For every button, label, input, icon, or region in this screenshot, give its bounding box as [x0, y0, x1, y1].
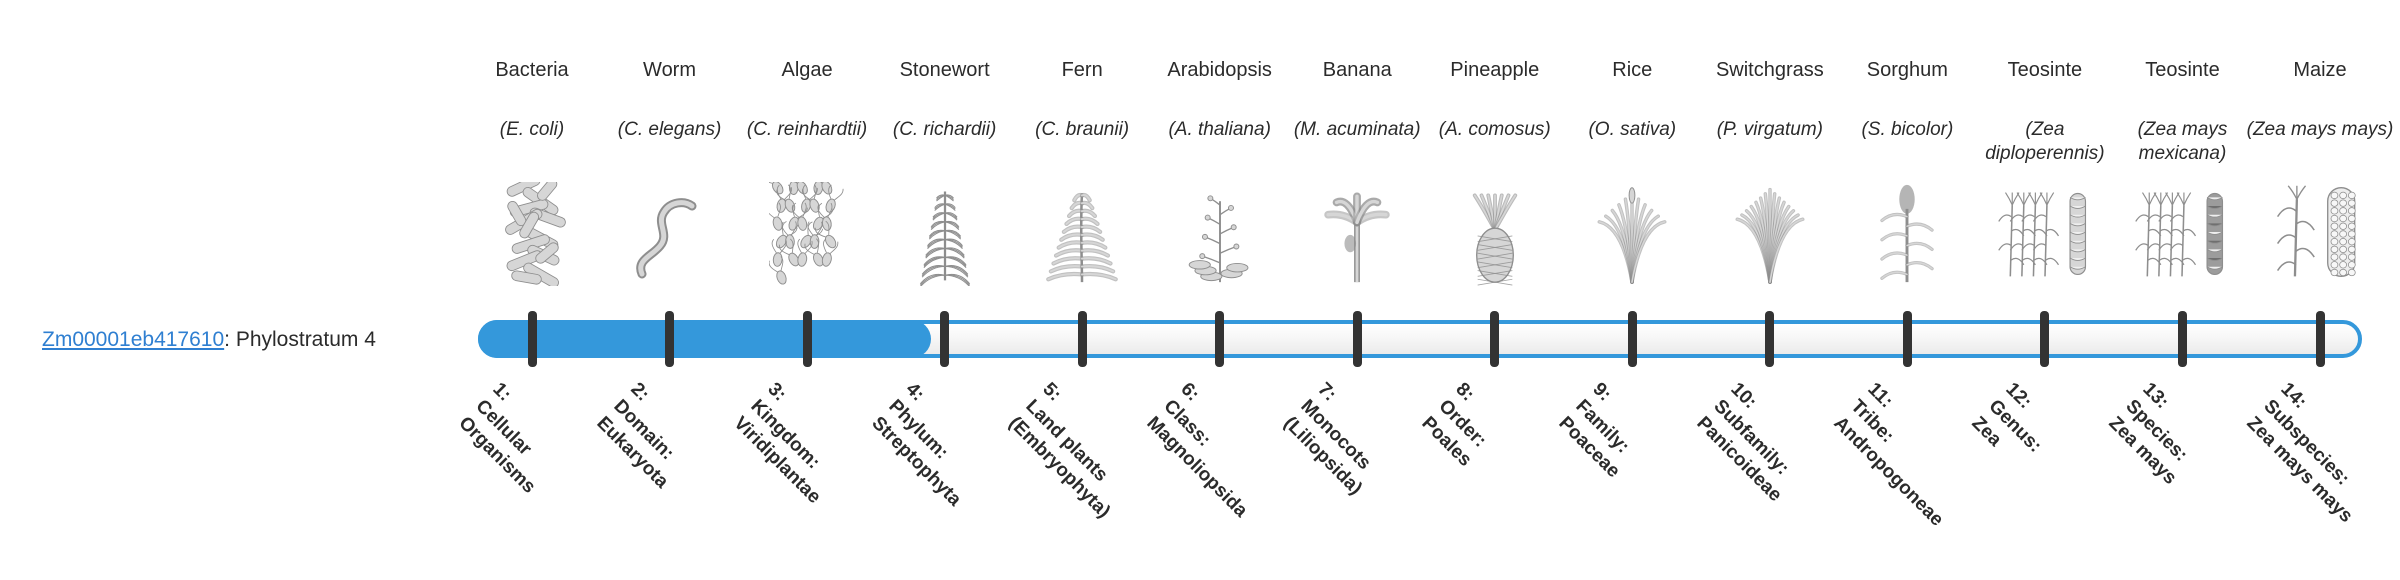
organism-common-name: Algae: [732, 58, 882, 83]
organism-common-name: Stonewort: [870, 58, 1020, 83]
organism-column-1: Bacteria (E. coli): [457, 0, 607, 580]
fern-frond-icon: [1007, 178, 1157, 286]
organism-column-12: Teosinte (Zea diploperennis): [1970, 0, 2120, 580]
organism-scientific-name: (M. acuminata): [1282, 118, 1432, 142]
organism-scientific-name: (C. elegans): [595, 118, 745, 142]
organism-column-9: Rice (O. sativa): [1557, 0, 1707, 580]
phylostratum-tick-1[interactable]: [528, 311, 537, 367]
nematode-worm-icon: [595, 178, 745, 286]
organism-common-name: Fern: [1007, 58, 1157, 83]
organism-scientific-name: (Zea mays mays): [2245, 118, 2395, 142]
gene-label-separator: :: [224, 328, 236, 351]
chlamydomonas-algae-icon: [732, 178, 882, 286]
organism-common-name: Arabidopsis: [1145, 58, 1295, 83]
gene-phylostratum-label: Zm00001eb417610: Phylostratum 4: [42, 328, 432, 352]
organism-common-name: Teosinte: [2107, 58, 2257, 83]
organism-common-name: Teosinte: [1970, 58, 2120, 83]
organism-column-2: Worm (C. elegans): [595, 0, 745, 580]
bacteria-rods-icon: [457, 178, 607, 286]
phylostratum-timeline: Zm00001eb417610: Phylostratum 4 Bacteria…: [0, 0, 2400, 580]
organism-scientific-name: (Zea diploperennis): [1970, 118, 2120, 166]
organism-column-13: Teosinte (Zea mays mexicana): [2107, 0, 2257, 580]
teosinte-plant-ear-icon: [1970, 178, 2120, 286]
organism-scientific-name: (C. reinhardtii): [732, 118, 882, 142]
phylostratum-tick-11[interactable]: [1903, 311, 1912, 367]
phylostratum-tick-7[interactable]: [1353, 311, 1362, 367]
phylostratum-tick-13[interactable]: [2178, 311, 2187, 367]
organism-common-name: Bacteria: [457, 58, 607, 83]
organism-column-8: Pineapple (A. comosus): [1420, 0, 1570, 580]
sorghum-plant-icon: [1832, 178, 1982, 286]
phylostratum-tick-14[interactable]: [2316, 311, 2325, 367]
organism-scientific-name: (E. coli): [457, 118, 607, 142]
gene-id-link[interactable]: Zm00001eb417610: [42, 328, 224, 351]
organism-common-name: Rice: [1557, 58, 1707, 83]
organism-scientific-name: (C. braunii): [1007, 118, 1157, 142]
phylostratum-tick-2[interactable]: [665, 311, 674, 367]
organism-common-name: Maize: [2245, 58, 2395, 83]
organism-common-name: Sorghum: [1832, 58, 1982, 83]
arabidopsis-plant-icon: [1145, 178, 1295, 286]
switchgrass-clump-icon: [1695, 178, 1845, 286]
teosinte-mexicana-icon: [2107, 178, 2257, 286]
phylostratum-tick-4[interactable]: [940, 311, 949, 367]
maize-plant-cob-icon: [2245, 178, 2395, 286]
phylostratum-tick-5[interactable]: [1078, 311, 1087, 367]
phylostratum-tick-12[interactable]: [2040, 311, 2049, 367]
rice-plant-icon: [1557, 178, 1707, 286]
organism-scientific-name: (A. comosus): [1420, 118, 1570, 142]
banana-palm-icon: [1282, 178, 1432, 286]
phylostratum-tick-10[interactable]: [1765, 311, 1774, 367]
organism-common-name: Pineapple: [1420, 58, 1570, 83]
organism-common-name: Worm: [595, 58, 745, 83]
pineapple-fruit-icon: [1420, 178, 1570, 286]
organism-scientific-name: (O. sativa): [1557, 118, 1707, 142]
phylostratum-value: Phylostratum 4: [236, 328, 376, 351]
organism-common-name: Switchgrass: [1695, 58, 1845, 83]
organism-common-name: Banana: [1282, 58, 1432, 83]
organism-scientific-name: (S. bicolor): [1832, 118, 1982, 142]
organism-scientific-name: (C. richardii): [870, 118, 1020, 142]
phylostratum-tick-8[interactable]: [1490, 311, 1499, 367]
stonewort-alga-icon: [870, 178, 1020, 286]
phylostratum-tick-6[interactable]: [1215, 311, 1224, 367]
organism-scientific-name: (A. thaliana): [1145, 118, 1295, 142]
organism-scientific-name: (P. virgatum): [1695, 118, 1845, 142]
organism-scientific-name: (Zea mays mexicana): [2107, 118, 2257, 166]
phylostratum-tick-3[interactable]: [803, 311, 812, 367]
phylostratum-tick-9[interactable]: [1628, 311, 1637, 367]
